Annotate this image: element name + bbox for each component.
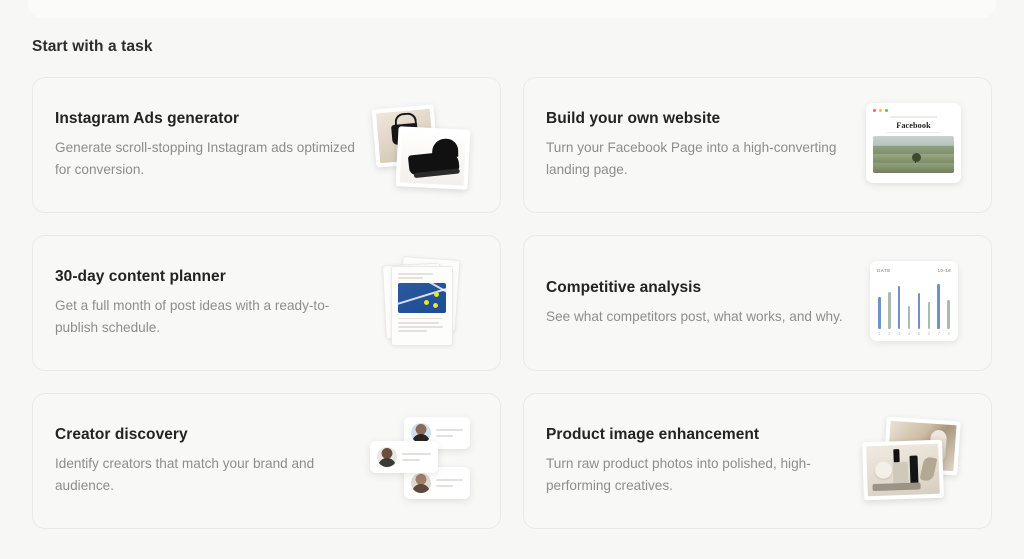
leaf-object <box>920 456 938 482</box>
chart-x-label: 2 <box>888 331 891 336</box>
placeholder-line <box>886 132 941 134</box>
card-title: Product image enhancement <box>546 426 847 444</box>
chart-x-label: 3 <box>898 331 901 336</box>
profile-text-lines <box>402 453 431 461</box>
card-description: Turn your Facebook Page into a high-conv… <box>546 137 846 179</box>
profile-text-lines <box>436 429 463 437</box>
minimize-dot-icon <box>879 109 882 112</box>
landscape-photo-icon <box>873 136 954 173</box>
base-object <box>872 482 920 491</box>
page-title: Start with a task <box>32 38 992 56</box>
product-photo-front-icon <box>862 440 944 501</box>
chart-bar <box>928 302 931 329</box>
card-text: Instagram Ads generator Generate scroll-… <box>55 110 356 179</box>
chart-x-label: 7 <box>937 331 940 336</box>
product-photos-thumbnail <box>857 411 969 511</box>
card-description: Identify creators that match your brand … <box>55 453 355 495</box>
task-card-creator-discovery[interactable]: Creator discovery Identify creators that… <box>32 393 501 529</box>
chart-title: DATE <box>877 268 891 273</box>
profile-text-lines <box>436 479 463 487</box>
photos-handbag-sneaker-thumbnail <box>366 95 478 195</box>
browser-mockup: Facebook <box>866 103 961 183</box>
creator-profile-cards-thumbnail <box>366 411 478 511</box>
card-text: Competitive analysis See what competitor… <box>546 279 847 327</box>
chart-x-label: 4 <box>908 331 911 336</box>
card-title: 30-day content planner <box>55 268 356 286</box>
bar-chart-card: DATE 10-16 12345678 <box>870 261 958 341</box>
avatar <box>411 423 431 443</box>
card-text: Product image enhancement Turn raw produ… <box>546 426 847 495</box>
chart-bars <box>877 277 951 329</box>
card-description: See what competitors post, what works, a… <box>546 306 846 327</box>
chart-x-label: 6 <box>928 331 931 336</box>
chart-x-label: 5 <box>918 331 921 336</box>
start-with-a-task-page: Start with a task Instagram Ads generato… <box>0 0 1024 529</box>
card-description: Generate scroll-stopping Instagram ads o… <box>55 137 355 179</box>
card-title: Build your own website <box>546 110 847 128</box>
cap-object <box>893 449 899 462</box>
card-text: 30-day content planner Get a full month … <box>55 268 356 337</box>
card-title: Competitive analysis <box>546 279 847 297</box>
chart-header: DATE 10-16 <box>877 268 951 273</box>
stacked-documents-thumbnail <box>366 253 478 353</box>
task-card-competitive-analysis[interactable]: Competitive analysis See what competitor… <box>523 235 992 371</box>
task-card-instagram-ads-generator[interactable]: Instagram Ads generator Generate scroll-… <box>32 77 501 213</box>
chart-bar <box>918 293 921 328</box>
browser-heading: Facebook <box>873 121 954 130</box>
avatar <box>411 473 431 493</box>
card-title: Instagram Ads generator <box>55 110 356 128</box>
avatar <box>377 447 397 467</box>
sneaker-photo-icon <box>395 126 470 190</box>
card-description: Get a full month of post ideas with a re… <box>55 295 355 337</box>
card-text: Creator discovery Identify creators that… <box>55 426 356 495</box>
sneaker-glyph <box>408 150 460 175</box>
placeholder-line <box>890 116 937 118</box>
box-object <box>893 462 909 484</box>
bottle-object <box>910 455 919 483</box>
traffic-light-dots <box>873 109 954 112</box>
chart-bar <box>878 297 881 329</box>
card-description: Turn raw product photos into polished, h… <box>546 453 846 495</box>
chart-x-label: 8 <box>947 331 950 336</box>
bar-chart-thumbnail: DATE 10-16 12345678 <box>857 253 969 353</box>
card-title: Creator discovery <box>55 426 356 444</box>
task-card-product-image-enhancement[interactable]: Product image enhancement Turn raw produ… <box>523 393 992 529</box>
chart-x-axis-labels: 12345678 <box>877 329 951 337</box>
task-card-build-your-own-website[interactable]: Build your own website Turn your Faceboo… <box>523 77 992 213</box>
chart-subtitle: 10-16 <box>938 268 952 273</box>
close-dot-icon <box>873 109 876 112</box>
sphere-object <box>875 461 893 479</box>
card-text: Build your own website Turn your Faceboo… <box>546 110 847 179</box>
creator-profile-card <box>370 441 438 473</box>
chart-bar <box>888 292 891 328</box>
task-card-30-day-content-planner[interactable]: 30-day content planner Get a full month … <box>32 235 501 371</box>
task-card-grid: Instagram Ads generator Generate scroll-… <box>32 77 992 529</box>
document-page-front-icon <box>391 266 453 346</box>
chart-bar <box>937 284 940 328</box>
chart-bar <box>947 300 950 329</box>
chart-x-label: 1 <box>878 331 881 336</box>
tennis-court-photo-icon <box>398 283 446 313</box>
maximize-dot-icon <box>885 109 888 112</box>
chart-bar <box>898 286 901 328</box>
browser-window-thumbnail: Facebook <box>857 95 969 195</box>
chart-bar <box>908 306 911 329</box>
